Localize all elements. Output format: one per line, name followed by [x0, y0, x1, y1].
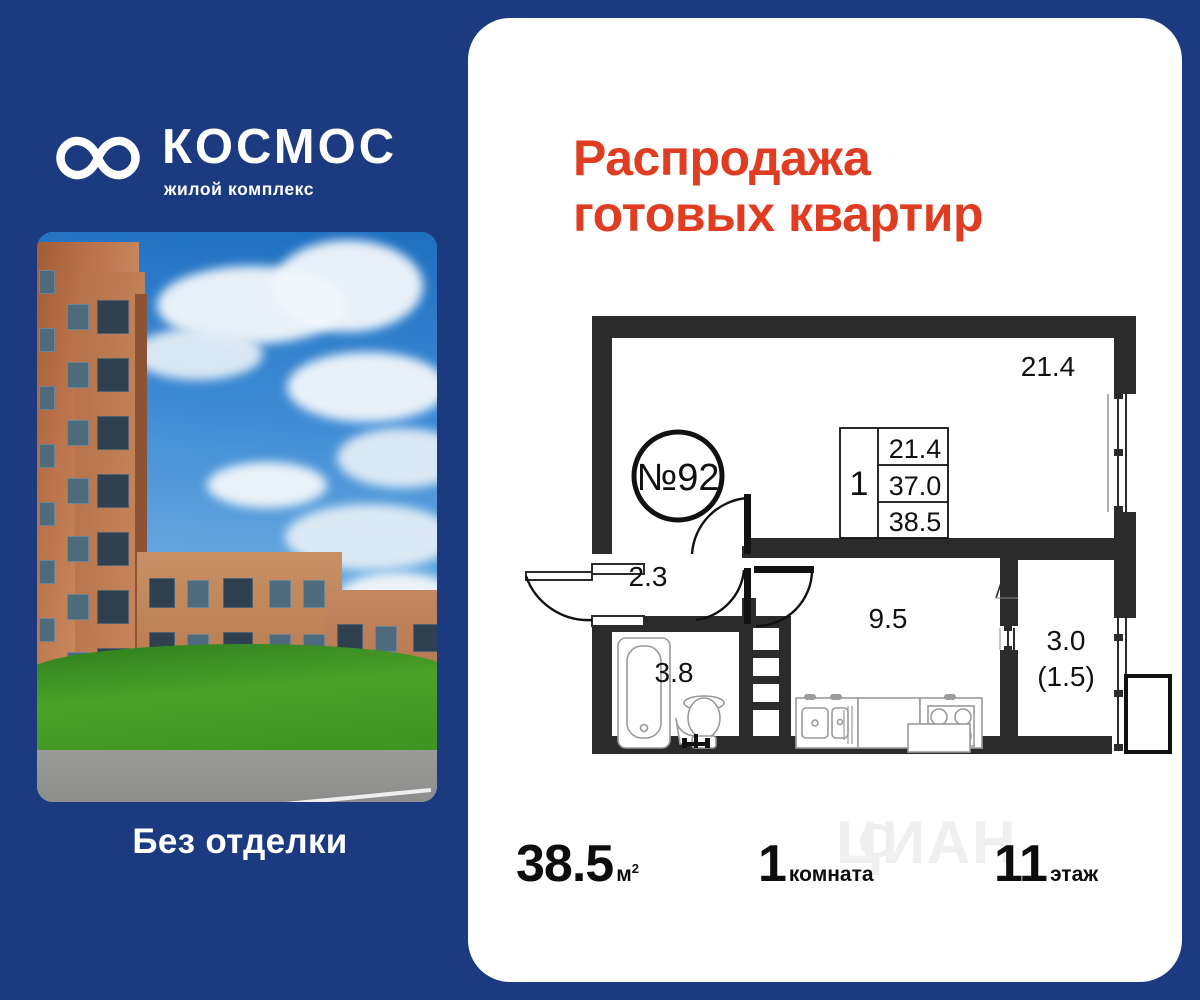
floor-plan: №92 1 21.4 37.0 38.5 21.4 — [496, 298, 1176, 798]
svg-text:37.0: 37.0 — [889, 471, 942, 501]
area-label-balcony-coef: (1.5) — [1037, 661, 1095, 692]
window — [67, 594, 89, 620]
stat-rooms: 1комната — [758, 834, 874, 894]
floor-value: 11 — [994, 835, 1047, 893]
building-photo — [37, 232, 437, 802]
balcony-glazing — [97, 474, 129, 508]
svg-text:№92: №92 — [636, 457, 719, 499]
window — [39, 386, 55, 410]
wall-top — [592, 316, 1136, 338]
svg-text:1: 1 — [850, 465, 869, 503]
window — [149, 578, 175, 608]
brand-name: КОСМОС — [162, 118, 442, 176]
stove-oven-outline — [908, 724, 970, 752]
stove-burner — [955, 709, 971, 725]
right-white-card: Распродажа готовых квартир — [468, 18, 1182, 982]
brand-logo: КОСМОС жилой комплекс — [52, 118, 442, 210]
balcony-glazing — [97, 358, 129, 392]
window — [269, 580, 291, 608]
stat-area: 38.5м2 — [516, 834, 639, 894]
window — [67, 304, 89, 330]
lawn — [37, 644, 437, 764]
wall-left-lower — [592, 616, 612, 752]
svg-text:21.4: 21.4 — [889, 434, 942, 464]
bathtub-drain — [641, 725, 648, 732]
balcony-glazing — [97, 416, 129, 450]
door-leaf-living — [744, 494, 751, 554]
balcony-glazing — [97, 300, 129, 334]
area-label-kitchen: 9.5 — [869, 603, 908, 634]
floor-plan-drawing: №92 1 21.4 37.0 38.5 21.4 — [496, 298, 1176, 798]
balcony-rail-box — [1126, 676, 1170, 752]
balcony-glazing — [97, 590, 129, 624]
area-value: 38.5 — [516, 835, 613, 893]
road — [37, 750, 437, 802]
wall-balcony-bottom — [1000, 736, 1112, 754]
closet-shelf — [748, 650, 786, 658]
door-swing-entry — [526, 576, 592, 620]
door-leaf-kitchen — [754, 566, 814, 573]
brand-tagline: жилой комплекс — [164, 178, 442, 200]
door-leaf-bath — [744, 568, 751, 624]
window — [187, 580, 209, 608]
wall-living-kitchen-b — [742, 546, 1000, 558]
window — [39, 560, 55, 584]
sink-drain-2 — [838, 720, 843, 725]
stove-burner — [931, 709, 947, 725]
closet-shelf — [748, 676, 786, 684]
floor-unit: этаж — [1050, 863, 1098, 886]
window — [67, 362, 89, 388]
window — [67, 478, 89, 504]
cloud-shape — [273, 240, 423, 332]
entry-door-frame — [526, 564, 644, 626]
cloud-shape — [207, 462, 327, 508]
page-title: Распродажа готовых квартир — [573, 130, 1113, 242]
road-marking — [202, 788, 431, 802]
headline-line-1: Распродажа — [573, 130, 1113, 186]
window — [67, 536, 89, 562]
advertisement-card: КОСМОС жилой комплекс — [0, 0, 1200, 1000]
window — [303, 580, 325, 608]
left-blue-panel: КОСМОС жилой комплекс — [0, 0, 480, 1000]
window — [375, 626, 397, 652]
area-unit: м2 — [616, 863, 639, 886]
window-living-room — [1108, 392, 1126, 513]
apartment-stats: 38.5м2 1комната 11этаж — [468, 828, 1182, 918]
window — [413, 624, 437, 652]
rooms-value: 1 — [758, 835, 786, 893]
balcony-glazing — [97, 532, 129, 566]
window — [39, 502, 55, 526]
finish-caption: Без отделки — [0, 822, 480, 862]
brand-text: КОСМОС жилой комплекс — [162, 118, 442, 200]
cloud-shape — [287, 352, 437, 422]
rooms-unit: комната — [789, 863, 874, 886]
window — [223, 578, 253, 608]
stat-floor: 11этаж — [994, 834, 1098, 894]
window — [39, 270, 55, 294]
area-label-hallway: 2.3 — [629, 561, 668, 592]
svg-text:38.5: 38.5 — [889, 507, 942, 537]
apartment-number-badge: №92 — [634, 432, 722, 520]
toilet-bowl — [688, 698, 720, 738]
cloud-shape — [133, 328, 263, 380]
area-label-balcony: 3.0 — [1047, 625, 1086, 656]
closet-shelf — [748, 702, 786, 710]
wall-left-upper — [592, 316, 612, 554]
wall-right-upper — [1114, 316, 1136, 394]
window — [39, 328, 55, 352]
infinity-icon — [52, 126, 144, 190]
wall-balcony-left-upper — [1000, 556, 1018, 626]
window — [39, 444, 55, 468]
area-label-bathroom: 3.8 — [655, 657, 694, 688]
area-label-living: 21.4 — [1021, 351, 1076, 382]
window — [39, 618, 55, 642]
headline-line-2: готовых квартир — [573, 186, 1113, 242]
window — [67, 420, 89, 446]
door-swing-bath — [696, 570, 744, 620]
sink-drain — [812, 720, 818, 726]
